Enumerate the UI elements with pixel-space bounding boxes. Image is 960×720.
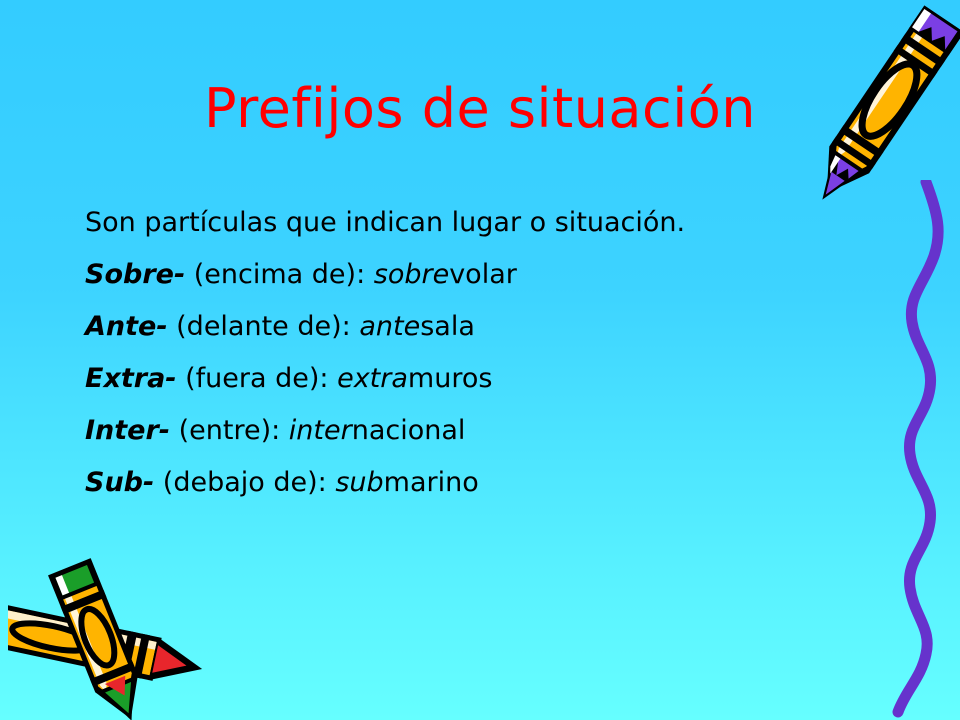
prefix-label: Ante- (85, 311, 168, 342)
list-item: Sub- (debajo de): submarino (85, 457, 745, 509)
prefix-meaning: (encima de): (194, 259, 365, 290)
example-prefix-part: extra (337, 363, 408, 394)
prefix-label: Sub- (85, 467, 154, 498)
example-rest-part: volar (449, 259, 517, 290)
example-rest-part: nacional (352, 415, 466, 446)
slide-body: Son partículas que indican lugar o situa… (85, 197, 745, 509)
list-item: Sobre- (encima de): sobrevolar (85, 249, 745, 301)
prefix-meaning: (debajo de): (163, 467, 327, 498)
example-rest-part: marino (384, 467, 479, 498)
purple-squiggle-line-icon (868, 180, 960, 720)
body-line-intro: Son partículas que indican lugar o situa… (85, 197, 745, 249)
prefix-meaning: (entre): (179, 415, 281, 446)
slide-canvas: Prefijos de situación Son partículas que… (0, 0, 960, 720)
list-item: Ante- (delante de): antesala (85, 301, 745, 353)
list-item: Inter- (entre): internacional (85, 405, 745, 457)
example-rest-part: sala (420, 311, 475, 342)
example-rest-part: muros (408, 363, 493, 394)
prefix-label: Extra- (85, 363, 177, 394)
example-prefix-part: sub (335, 467, 383, 498)
intro-text: Son partículas que indican lugar o situa… (85, 207, 685, 238)
example-prefix-part: inter (289, 415, 352, 446)
page-title: Prefijos de situación (0, 78, 960, 140)
prefix-label: Sobre- (85, 259, 185, 290)
prefix-label: Inter- (85, 415, 170, 446)
example-prefix-part: sobre (374, 259, 449, 290)
list-item: Extra- (fuera de): extramuros (85, 353, 745, 405)
example-prefix-part: ante (359, 311, 420, 342)
prefix-meaning: (delante de): (176, 311, 351, 342)
prefix-meaning: (fuera de): (185, 363, 328, 394)
crossed-crayons-bottom-left-icon (8, 555, 218, 720)
